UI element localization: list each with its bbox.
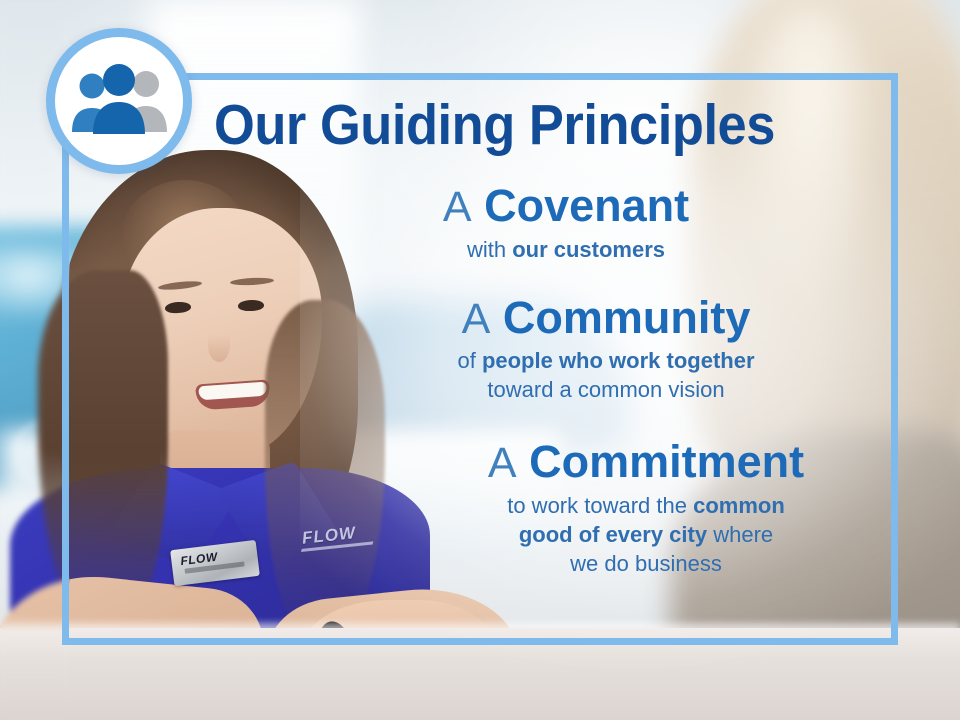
plain-text: where bbox=[707, 522, 773, 547]
principle-community-article: A bbox=[462, 295, 491, 343]
principle-covenant-subtext: with our customers bbox=[260, 235, 872, 264]
principle-subtext-line: toward a common vision bbox=[340, 375, 872, 404]
plain-text: toward a common vision bbox=[487, 377, 724, 402]
plain-text: we do business bbox=[570, 551, 722, 576]
principle-subtext-line: we do business bbox=[420, 549, 872, 578]
principle-covenant: A Covenant with our customers bbox=[120, 182, 872, 264]
principle-subtext-line: to work toward the common bbox=[420, 491, 872, 520]
desk-surface bbox=[0, 628, 960, 720]
principle-commitment-title: Commitment bbox=[529, 436, 804, 487]
principle-subtext-line: of people who work together bbox=[340, 346, 872, 375]
principle-subtext-line: good of every city where bbox=[420, 520, 872, 549]
page-title: Our Guiding Principles bbox=[214, 97, 821, 154]
emphasis-text: our customers bbox=[512, 237, 665, 262]
plain-text: of bbox=[457, 348, 481, 373]
emphasis-text: people who work together bbox=[482, 348, 755, 373]
principle-commitment: A Commitment to work toward the commongo… bbox=[120, 438, 872, 578]
principle-covenant-title: Covenant bbox=[484, 180, 689, 231]
emphasis-text: good of every city bbox=[519, 522, 707, 547]
principle-community-title: Community bbox=[503, 292, 751, 343]
people-icon-badge bbox=[46, 28, 192, 174]
people-group-icon bbox=[67, 64, 171, 138]
guiding-principles-poster: FLOW FLOW Our Guiding Principles bbox=[0, 0, 960, 720]
principles-list: A Covenant with our customers A Communit… bbox=[120, 182, 872, 588]
principle-community-subtext: of people who work togethertoward a comm… bbox=[340, 346, 872, 404]
emphasis-text: common bbox=[693, 493, 785, 518]
principle-community-heading: A Community bbox=[340, 294, 872, 343]
principle-subtext-line: with our customers bbox=[260, 235, 872, 264]
principle-commitment-article: A bbox=[488, 439, 517, 487]
principle-covenant-article: A bbox=[443, 183, 472, 231]
principle-commitment-subtext: to work toward the commongood of every c… bbox=[420, 491, 872, 578]
principle-commitment-heading: A Commitment bbox=[420, 438, 872, 487]
plain-text: with bbox=[467, 237, 512, 262]
principle-community: A Community of people who work togethert… bbox=[120, 294, 872, 405]
plain-text: to work toward the bbox=[507, 493, 693, 518]
principle-covenant-heading: A Covenant bbox=[260, 182, 872, 231]
